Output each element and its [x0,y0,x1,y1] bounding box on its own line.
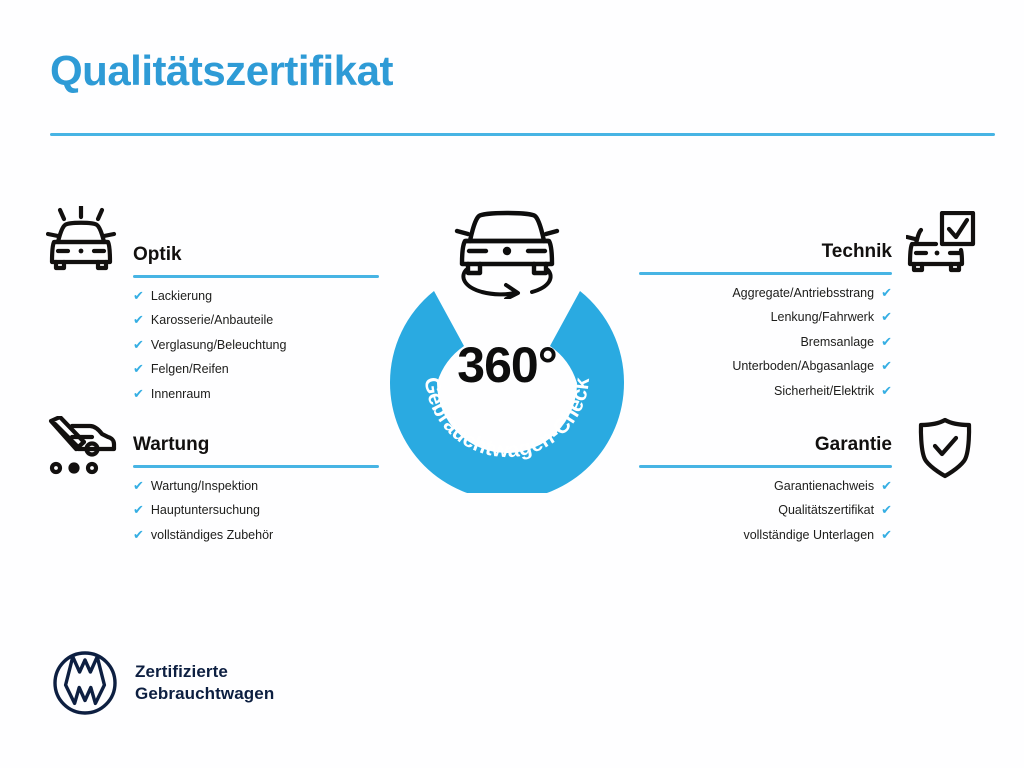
vw-logo [52,650,118,716]
list-item: vollständige Unterlagen✔ [639,523,892,547]
list-item-label: vollständiges Zubehör [151,524,273,547]
section-wartung: Wartung ✔Wartung/Inspektion ✔Hauptunters… [133,430,379,547]
list-item: ✔vollständiges Zubehör [133,523,379,547]
checklist-technik: Aggregate/Antriebsstrang✔ Lenkung/Fahrwe… [639,281,892,403]
check-icon: ✔ [133,498,144,521]
list-item: Unterboden/Abgasanlage✔ [639,354,892,378]
section-header: Technik [639,237,892,281]
list-item: ✔Verglasung/Beleuchtung [133,333,379,357]
check-icon: ✔ [881,281,892,304]
header-divider [50,133,995,136]
section-header: Wartung [133,430,379,474]
section-technik: Technik Aggregate/Antriebsstrang✔ Lenkun… [639,237,892,403]
check-icon: ✔ [133,284,144,307]
section-title: Technik [639,237,892,267]
check-icon: ✔ [133,382,144,405]
check-icon: ✔ [881,379,892,402]
check-icon: ✔ [133,474,144,497]
list-item: Garantienachweis✔ [639,474,892,498]
check-icon: ✔ [881,498,892,521]
list-item: ✔Hauptuntersuchung [133,498,379,522]
list-item-label: Innenraum [151,383,211,406]
check-icon: ✔ [133,333,144,356]
check-icon: ✔ [881,354,892,377]
list-item: ✔Lackierung [133,284,379,308]
section-divider [133,465,379,468]
list-item-label: Verglasung/Beleuchtung [151,334,287,357]
footer-line-1: Zertifizierte [135,661,274,683]
list-item: ✔Karosserie/Anbauteile [133,308,379,332]
list-item-label: Lenkung/Fahrwerk [771,306,875,329]
list-item-label: vollständige Unterlagen [743,524,874,547]
footer-line-2: Gebrauchtwagen [135,683,274,705]
list-item-label: Lackierung [151,285,212,308]
list-item-label: Sicherheit/Elektrik [774,380,874,403]
list-item-label: Unterboden/Abgasanlage [732,355,874,378]
section-header: Optik [133,240,379,284]
checklist-garantie: Garantienachweis✔ Qualitätszertifikat✔ v… [639,474,892,547]
certificate-page: Qualitätszertifikat [0,0,1024,768]
list-item: Sicherheit/Elektrik✔ [639,379,892,403]
check-icon: ✔ [133,523,144,546]
list-item: ✔Wartung/Inspektion [133,474,379,498]
list-item: Qualitätszertifikat✔ [639,498,892,522]
section-garantie: Garantie Garantienachweis✔ Qualitätszert… [639,430,892,547]
section-divider [639,465,892,468]
list-item-label: Qualitätszertifikat [778,499,874,522]
list-item: Lenkung/Fahrwerk✔ [639,305,892,329]
page-title: Qualitätszertifikat [50,50,393,92]
list-item: ✔Innenraum [133,382,379,406]
badge-360-check: Gebrauchtwagen-Check 360° [382,203,632,493]
check-icon: ✔ [881,305,892,328]
section-title: Wartung [133,430,379,460]
list-item-label: Felgen/Reifen [151,358,229,381]
checklist-wartung: ✔Wartung/Inspektion ✔Hauptuntersuchung ✔… [133,474,379,547]
car-checkbox-icon [906,211,976,278]
list-item-label: Wartung/Inspektion [151,475,258,498]
list-item-label: Hauptuntersuchung [151,499,260,522]
section-divider [639,272,892,275]
car-service-pen-icon [46,416,118,481]
check-icon: ✔ [881,330,892,353]
footer-brand: Zertifizierte Gebrauchtwagen [52,650,274,716]
check-icon: ✔ [881,474,892,497]
check-icon: ✔ [133,308,144,331]
section-title: Optik [133,240,379,270]
check-icon: ✔ [881,523,892,546]
list-item-label: Garantienachweis [774,475,874,498]
section-divider [133,275,379,278]
check-icon: ✔ [133,357,144,380]
car-rotation-icon [450,203,564,299]
list-item-label: Karosserie/Anbauteile [151,309,273,332]
checklist-optik: ✔Lackierung ✔Karosserie/Anbauteile ✔Verg… [133,284,379,406]
section-title: Garantie [639,430,892,460]
badge-value: 360° [382,340,632,390]
list-item-label: Bremsanlage [800,331,874,354]
section-optik: Optik ✔Lackierung ✔Karosserie/Anbauteile… [133,240,379,406]
section-header: Garantie [639,430,892,474]
shield-check-icon [916,417,974,484]
car-polish-icon [46,206,118,277]
list-item: Bremsanlage✔ [639,330,892,354]
list-item: Aggregate/Antriebsstrang✔ [639,281,892,305]
list-item-label: Aggregate/Antriebsstrang [732,282,874,305]
footer-brand-text: Zertifizierte Gebrauchtwagen [135,661,274,705]
list-item: ✔Felgen/Reifen [133,357,379,381]
